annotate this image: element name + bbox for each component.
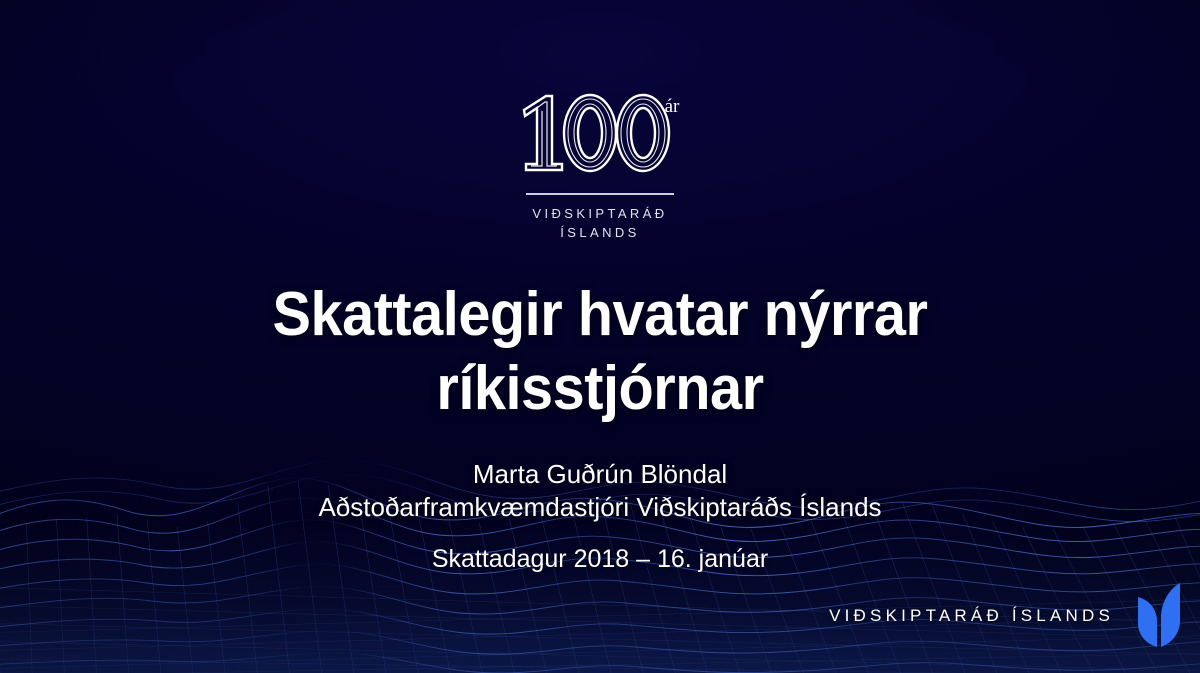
slide-title-line-2: ríkisstjórnar <box>116 352 1083 426</box>
vidskiptarad-leaf-icon <box>1136 581 1182 651</box>
slide-subtitle: Marta Guðrún Blöndal Aðstoðarframkvæmdas… <box>60 458 1140 575</box>
logo-100-ar-mark: ár <box>512 86 688 186</box>
slide-title: Skattalegir hvatar nýrrar ríkisstjórnar <box>116 278 1083 426</box>
logo-superscript-ar: ár <box>665 96 680 117</box>
anniversary-logo: ár VIÐSKIPTARÁÐ ÍSLANDS <box>0 86 1200 242</box>
event-date: Skattadagur 2018 – 16. janúar <box>60 543 1140 575</box>
slide-footer: VIÐSKIPTARÁÐ ÍSLANDS <box>829 581 1182 651</box>
title-slide: ár VIÐSKIPTARÁÐ ÍSLANDS Skattalegir hvat… <box>0 0 1200 673</box>
logo-org-line-2: ÍSLANDS <box>0 223 1200 242</box>
slide-title-line-1: Skattalegir hvatar nýrrar <box>116 278 1083 352</box>
speaker-name: Marta Guðrún Blöndal <box>60 458 1140 491</box>
speaker-role: Aðstoðarframkvæmdastjóri Viðskiptaráðs Í… <box>60 491 1140 524</box>
footer-org-name: VIÐSKIPTARÁÐ ÍSLANDS <box>829 606 1114 626</box>
logo-divider-rule <box>526 193 674 195</box>
logo-org-line-1: VIÐSKIPTARÁÐ <box>0 204 1200 223</box>
